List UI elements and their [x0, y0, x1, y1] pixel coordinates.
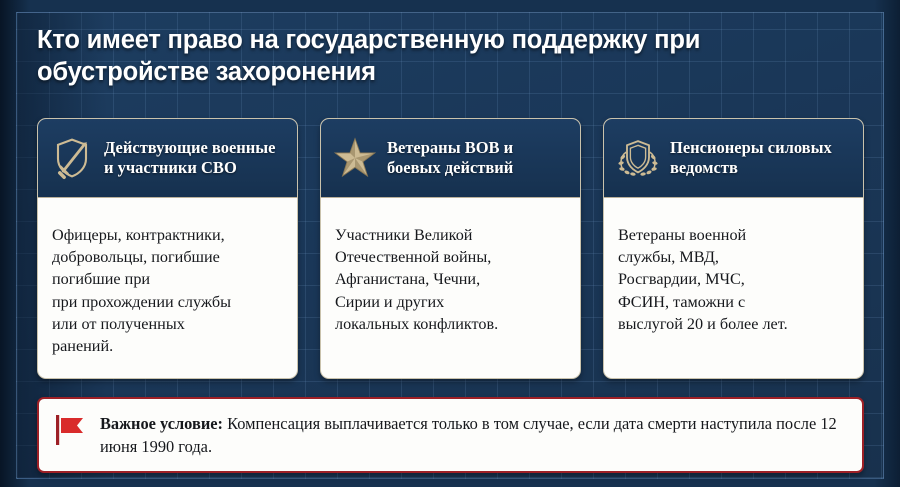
shield-laurel-icon: [616, 135, 660, 181]
card-body: Офицеры, контрактники, добровольцы, поги…: [38, 198, 297, 378]
note-label: Важное условие:: [100, 414, 223, 433]
card-header: Ветераны ВОВ и боевых действий: [321, 119, 580, 198]
card-title: Действующие военные и участники СВО: [104, 138, 287, 178]
eligibility-cards: Действующие военные и участники СВО Офиц…: [37, 118, 864, 379]
card-war-veterans: Ветераны ВОВ и боевых действий Участники…: [320, 118, 581, 379]
card-header: Пенсионеры силовых ведомств: [604, 119, 863, 198]
page-title: Кто имеет право на государственную подде…: [37, 24, 837, 88]
red-flag-icon: [53, 413, 87, 447]
infographic-root: Кто имеет право на государственную подде…: [0, 0, 900, 487]
card-title: Ветераны ВОВ и боевых действий: [387, 138, 570, 178]
card-header: Действующие военные и участники СВО: [38, 119, 297, 198]
star-icon: [333, 135, 377, 181]
card-active-military: Действующие военные и участники СВО Офиц…: [37, 118, 298, 379]
card-body: Ветераны военной службы, МВД, Росгвардии…: [604, 198, 863, 378]
card-body: Участники Великой Отечественной войны, А…: [321, 198, 580, 378]
note-text: Важное условие: Компенсация выплачиваетс…: [100, 412, 846, 459]
card-title: Пенсионеры силовых ведомств: [670, 138, 853, 178]
shield-sword-icon: [50, 135, 94, 181]
important-condition-note: Важное условие: Компенсация выплачиваетс…: [37, 397, 864, 473]
card-law-enforcement-pensioners: Пенсионеры силовых ведомств Ветераны вое…: [603, 118, 864, 379]
